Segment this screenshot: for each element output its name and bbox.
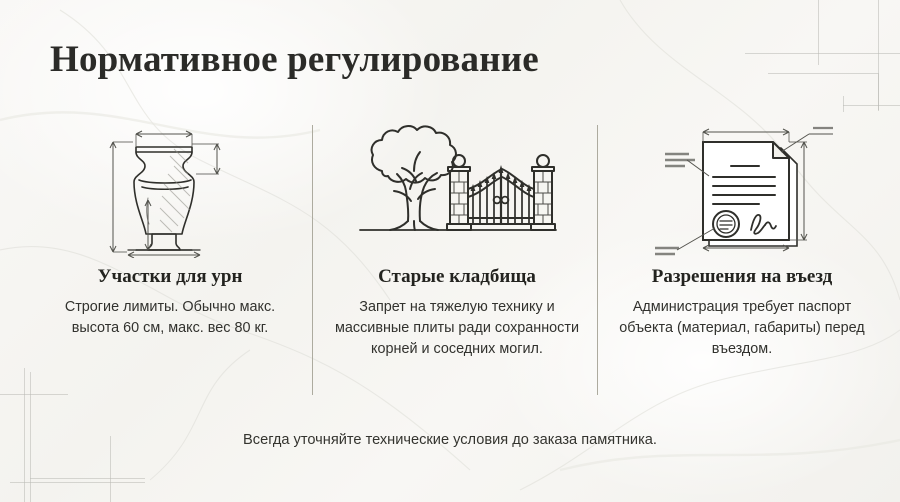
blueprint-line: [818, 0, 819, 65]
blueprint-line: [30, 478, 145, 479]
urn-blueprint-icon: [35, 118, 305, 258]
feature-column-cemetery: Старые кладбища Запрет на тяжелую техник…: [322, 118, 592, 360]
column-divider-2: [597, 125, 598, 395]
column-body: Администрация требует паспорт объекта (м…: [607, 297, 877, 360]
blueprint-line: [745, 53, 900, 54]
feature-column-permit: Разрешения на въезд Администрация требуе…: [607, 118, 877, 360]
blueprint-line: [843, 105, 900, 106]
blueprint-line: [0, 394, 68, 395]
feature-column-urn: Участки для урн Строгие лимиты. Обычно м…: [35, 118, 305, 339]
page-title: Нормативное регулирование: [50, 38, 539, 81]
permit-document-icon: [607, 118, 877, 258]
column-body: Запрет на тяжелую технику и массивные пл…: [322, 297, 592, 360]
blueprint-line: [768, 73, 878, 74]
column-title: Участки для урн: [35, 266, 305, 288]
column-title: Старые кладбища: [322, 266, 592, 288]
blueprint-line: [843, 96, 844, 112]
column-body: Строгие лимиты. Обычно макс. высота 60 с…: [35, 297, 305, 339]
blueprint-line: [10, 482, 145, 483]
column-divider-1: [312, 125, 313, 395]
tree-cemetery-gate-icon: [322, 118, 592, 258]
column-title: Разрешения на въезд: [607, 266, 877, 288]
footer-note: Всегда уточняйте технические условия до …: [0, 432, 900, 448]
slide-canvas: Нормативное регулирование: [0, 0, 900, 502]
